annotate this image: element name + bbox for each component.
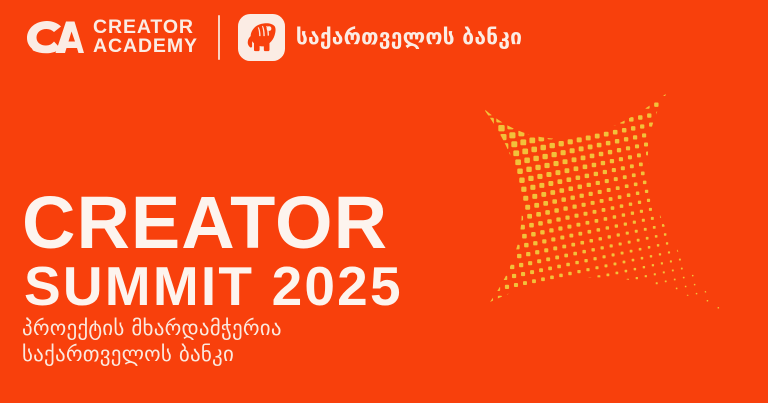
sponsor-note-line1: პროექტის მხარდამჭერია: [22, 316, 282, 342]
creator-academy-wordmark: CREATOR ACADEMY: [93, 18, 198, 56]
page-title: CREATOR: [22, 192, 403, 254]
page-subtitle-main: SUMMIT 2025: [24, 260, 403, 312]
halftone-star-graphic: [452, 58, 752, 338]
logo-lockup: CREATOR ACADEMY საქართველოს ბანკი: [24, 10, 522, 64]
bank-of-georgia-logo[interactable]: საქართველოს ბანკი: [238, 14, 522, 61]
creator-academy-logo[interactable]: CREATOR ACADEMY: [24, 15, 198, 59]
promo-banner: CREATOR ACADEMY საქართველოს ბანკი: [0, 0, 768, 403]
bank-of-georgia-name: საქართველოს ბანკი: [296, 25, 522, 49]
sponsor-note: პროექტის მხარდამჭერია საქართველოს ბანკი: [22, 316, 282, 367]
sponsor-note-line2: საქართველოს ბანკი: [22, 342, 282, 368]
creator-academy-monogram-icon: [24, 15, 84, 59]
creator-academy-word-line2: ACADEMY: [93, 37, 198, 56]
bank-of-georgia-lion-icon: [238, 14, 285, 61]
hero-headline: CREATOR SUMMIT 2025: [22, 192, 403, 312]
halftone-star-svg: [452, 58, 752, 338]
logo-divider: [218, 15, 220, 60]
